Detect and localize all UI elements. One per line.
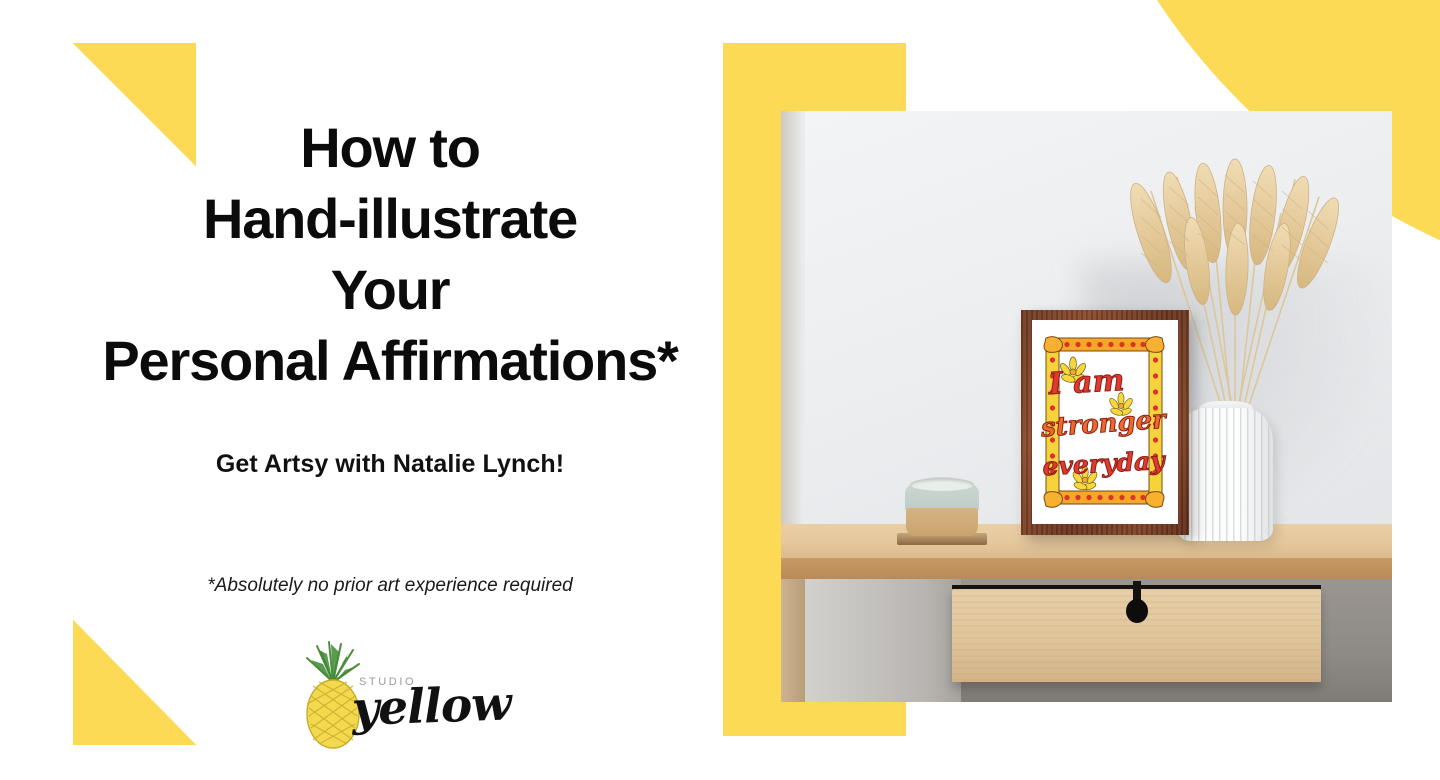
product-photo: I am stronger everyday	[781, 111, 1392, 702]
ceramic-cup	[905, 477, 979, 539]
subtitle: Get Artsy with Natalie Lynch!	[40, 450, 740, 479]
logo-yellow-text: yellow	[351, 676, 512, 737]
under-desk-light-wall	[781, 579, 961, 702]
cup-cork-base	[906, 508, 978, 536]
drawer-pull-knob	[1126, 599, 1148, 623]
framed-print: I am stronger everyday	[1021, 310, 1189, 535]
desk-edge	[781, 558, 1392, 580]
svg-text:I am: I am	[1047, 363, 1125, 402]
desk-leg	[781, 579, 805, 702]
wall-corner-edge	[781, 111, 805, 541]
drawer-pull-icon[interactable]	[1126, 581, 1148, 631]
footnote: *Absolutely no prior art experience requ…	[40, 575, 740, 597]
vase-ribs	[1177, 408, 1273, 541]
ribbed-vase	[1177, 408, 1273, 541]
poster-canvas: How to Hand-illustrate Your Personal Aff…	[0, 0, 1440, 780]
cup-rim	[910, 478, 974, 491]
affirmation-artwork: I am stronger everyday	[1032, 320, 1178, 524]
page-title: How to Hand-illustrate Your Personal Aff…	[40, 112, 740, 396]
print-paper: I am stronger everyday	[1032, 320, 1178, 524]
studio-yellow-logo: STUDIO yellow	[295, 638, 475, 750]
